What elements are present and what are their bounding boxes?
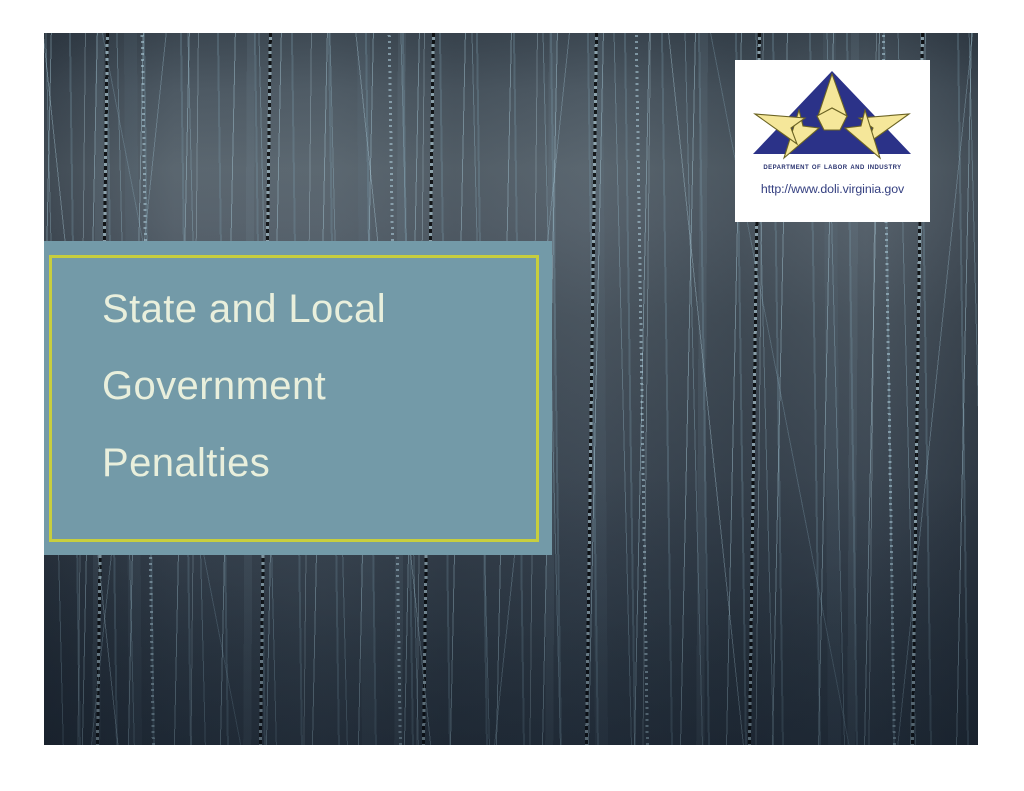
logo-url: http://www.doli.virginia.gov [735,182,930,196]
title-panel: State and Local Government Penalties [44,241,552,555]
logo-caption: DEPARTMENT OF LABOR AND INDUSTRY [735,161,930,171]
agency-logo-box: DEPARTMENT OF LABOR AND INDUSTRY http://… [735,60,930,222]
slide-title: State and Local Government Penalties [102,271,526,502]
page-canvas: State and Local Government Penalties [0,0,1024,791]
doli-logo-mark [751,68,914,160]
presentation-slide: State and Local Government Penalties [44,33,978,745]
